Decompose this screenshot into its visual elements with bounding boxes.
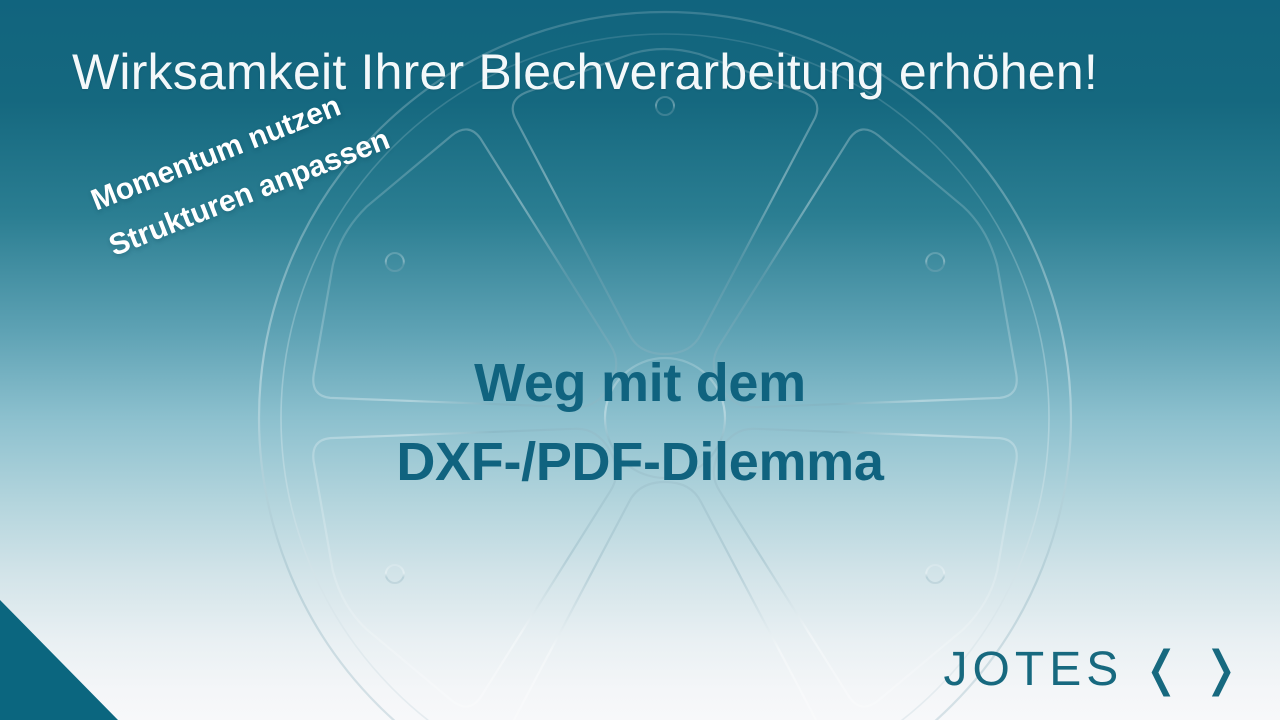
corner-accent-triangle [0, 600, 118, 720]
presentation-slide: Wirksamkeit Ihrer Blechverarbeitung erhö… [0, 0, 1280, 720]
code-brackets-icon: ❬ ❭ [1141, 646, 1244, 694]
main-title: Weg mit dem DXF-/PDF-Dilemma [240, 344, 1040, 502]
tagline-block: Momentum nutzen Strukturen anpassen [84, 71, 397, 271]
logo-wordmark: JOTES [944, 646, 1124, 694]
brand-logo: JOTES ❬ ❭ [944, 646, 1244, 694]
page-title: Wirksamkeit Ihrer Blechverarbeitung erhö… [72, 44, 1098, 100]
main-title-line-1: Weg mit dem [240, 344, 1040, 423]
main-title-line-2: DXF-/PDF-Dilemma [240, 423, 1040, 502]
